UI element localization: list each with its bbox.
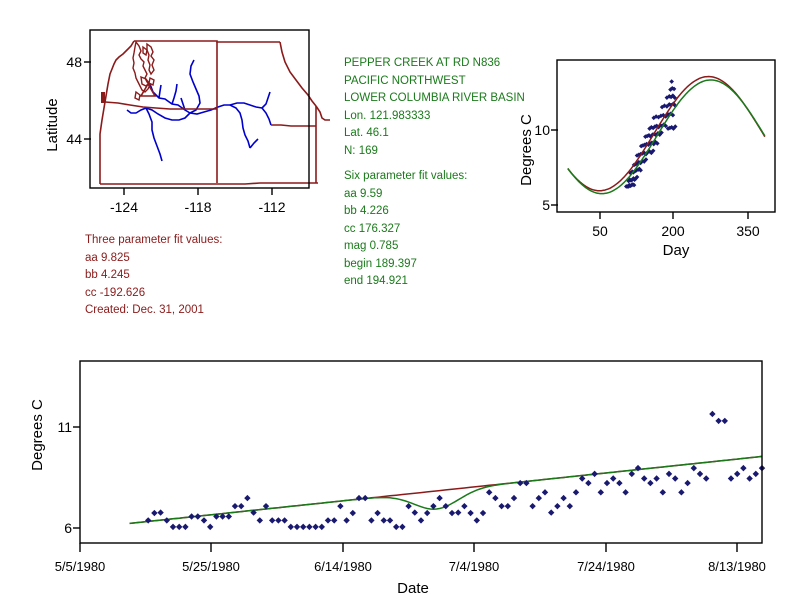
data-point bbox=[492, 495, 498, 501]
data-point bbox=[567, 503, 573, 509]
data-point bbox=[585, 480, 591, 486]
seasonal-ytick-label: 10 bbox=[534, 122, 550, 138]
data-point bbox=[257, 517, 263, 523]
data-point bbox=[164, 517, 170, 523]
data-point bbox=[176, 524, 182, 530]
data-point bbox=[529, 503, 535, 509]
six-param-end: end 194.921 bbox=[344, 273, 525, 291]
data-point bbox=[709, 411, 715, 417]
station-info-green: PEPPER CREEK AT RD N836 PACIFIC NORTHWES… bbox=[344, 55, 525, 291]
data-point bbox=[746, 475, 752, 481]
data-point bbox=[455, 509, 461, 515]
data-point bbox=[629, 471, 635, 477]
data-point bbox=[486, 489, 492, 495]
data-point bbox=[170, 524, 176, 530]
data-point bbox=[182, 524, 188, 530]
locator-map-panel: Latitude 48 44 -124 -118 -112 bbox=[0, 0, 330, 230]
seasonal-fit-panel: Degrees C 10 5 50 200 350 Day bbox=[500, 40, 792, 270]
data-point bbox=[560, 495, 566, 501]
data-point bbox=[740, 465, 746, 471]
data-point bbox=[467, 510, 473, 516]
data-point bbox=[356, 495, 362, 501]
data-point bbox=[362, 495, 368, 501]
data-point bbox=[201, 517, 207, 523]
data-point bbox=[374, 510, 380, 516]
map-ylabel: Latitude bbox=[44, 98, 61, 151]
data-point bbox=[598, 489, 604, 495]
timeseries-ylabel: Degrees C bbox=[29, 399, 46, 471]
six-param-bb: bb 4.226 bbox=[344, 203, 525, 221]
data-point bbox=[232, 503, 238, 509]
data-point bbox=[653, 475, 659, 481]
data-point bbox=[616, 480, 622, 486]
data-point bbox=[337, 503, 343, 509]
timeseries-xtick-label: 6/14/1980 bbox=[314, 559, 372, 574]
seasonal-fit-svg: Degrees C 10 5 50 200 350 Day bbox=[500, 40, 792, 270]
data-point bbox=[691, 465, 697, 471]
data-point bbox=[728, 475, 734, 481]
data-point bbox=[666, 471, 672, 477]
data-point bbox=[244, 495, 250, 501]
timeseries-xtick-label: 5/25/1980 bbox=[182, 559, 240, 574]
time-series-panel: Degrees C 11 6 5/5/1980 5/25/1980 6/14/1… bbox=[0, 340, 792, 611]
data-point bbox=[641, 475, 647, 481]
data-point bbox=[722, 418, 728, 424]
data-point bbox=[461, 503, 467, 509]
data-point bbox=[734, 471, 740, 477]
data-point bbox=[480, 510, 486, 516]
six-param-aa: aa 9.59 bbox=[344, 186, 525, 204]
info-spacer bbox=[344, 160, 525, 168]
data-point bbox=[226, 513, 232, 519]
data-point bbox=[647, 480, 653, 486]
data-point bbox=[511, 495, 517, 501]
map-xtick-label: -124 bbox=[110, 199, 138, 215]
timeseries-ytick-label: 6 bbox=[64, 520, 72, 536]
timeseries-plot-border bbox=[80, 361, 762, 543]
data-point bbox=[343, 517, 349, 523]
station-latitude: Lat. 46.1 bbox=[344, 125, 525, 143]
timeseries-xtick-label: 7/24/1980 bbox=[577, 559, 635, 574]
six-param-begin: begin 189.397 bbox=[344, 256, 525, 274]
data-point bbox=[591, 471, 597, 477]
seasonal-ytick-label: 5 bbox=[542, 197, 550, 213]
data-point bbox=[449, 510, 455, 516]
six-param-heading: Six parameter fit values: bbox=[344, 168, 525, 186]
timeseries-xtick-label: 7/4/1980 bbox=[449, 559, 500, 574]
map-xtick-label: -118 bbox=[185, 199, 212, 215]
station-region: PACIFIC NORTHWEST bbox=[344, 73, 525, 91]
data-point bbox=[381, 517, 387, 523]
data-point bbox=[715, 418, 721, 424]
data-point bbox=[536, 495, 542, 501]
data-point bbox=[412, 509, 418, 515]
data-point bbox=[331, 517, 337, 523]
data-point bbox=[554, 503, 560, 509]
six-param-mag: mag 0.785 bbox=[344, 238, 525, 256]
data-point bbox=[753, 471, 759, 477]
data-point bbox=[319, 524, 325, 530]
three-param-aa: aa 9.825 bbox=[85, 250, 222, 268]
station-basin: LOWER COLUMBIA RIVER BASIN bbox=[344, 90, 525, 108]
data-point bbox=[474, 517, 480, 523]
data-point bbox=[542, 489, 548, 495]
data-point bbox=[684, 480, 690, 486]
data-point bbox=[622, 489, 628, 495]
data-point bbox=[269, 517, 275, 523]
data-point bbox=[188, 513, 194, 519]
data-point bbox=[294, 524, 300, 530]
data-point bbox=[300, 524, 306, 530]
data-point bbox=[306, 524, 312, 530]
data-point bbox=[195, 513, 201, 519]
data-point bbox=[387, 517, 393, 523]
river-network bbox=[127, 60, 271, 161]
station-longitude: Lon. 121.983333 bbox=[344, 108, 525, 126]
data-point bbox=[703, 475, 709, 481]
data-point bbox=[610, 475, 616, 481]
data-point bbox=[368, 517, 374, 523]
data-point bbox=[517, 480, 523, 486]
seasonal-xtick-label: 50 bbox=[592, 223, 608, 239]
timeseries-xtick-label: 8/13/1980 bbox=[708, 559, 766, 574]
map-xtick-label: -112 bbox=[259, 199, 286, 215]
data-point bbox=[393, 524, 399, 530]
data-point bbox=[573, 489, 579, 495]
three-param-bb: bb 4.245 bbox=[85, 267, 222, 285]
map-ytick-label: 44 bbox=[66, 131, 82, 147]
map-ytick-label: 48 bbox=[66, 54, 82, 70]
data-point bbox=[312, 524, 318, 530]
seasonal-xlabel: Day bbox=[663, 242, 690, 259]
data-point bbox=[405, 503, 411, 509]
data-point bbox=[424, 510, 430, 516]
data-point bbox=[325, 517, 331, 523]
timeseries-xtick-label: 5/5/1980 bbox=[55, 559, 106, 574]
data-point bbox=[275, 517, 281, 523]
data-point bbox=[660, 489, 666, 495]
three-param-info-red: Three parameter fit values: aa 9.825 bb … bbox=[85, 232, 222, 320]
data-point bbox=[281, 517, 287, 523]
created-date: Created: Dec. 31, 2001 bbox=[85, 302, 222, 320]
data-point bbox=[418, 517, 424, 523]
data-point bbox=[443, 503, 449, 509]
data-point bbox=[498, 503, 504, 509]
data-point bbox=[238, 503, 244, 509]
data-point bbox=[145, 517, 151, 523]
data-point bbox=[399, 524, 405, 530]
data-point bbox=[678, 489, 684, 495]
data-point bbox=[288, 524, 294, 530]
data-point bbox=[157, 509, 163, 515]
station-sample-count: N: 169 bbox=[344, 143, 525, 161]
locator-map-svg: Latitude 48 44 -124 -118 -112 bbox=[0, 0, 330, 230]
data-point bbox=[604, 480, 610, 486]
data-point bbox=[669, 79, 674, 84]
three-param-cc: cc -192.626 bbox=[85, 285, 222, 303]
data-point bbox=[505, 503, 511, 509]
time-series-svg: Degrees C 11 6 5/5/1980 5/25/1980 6/14/1… bbox=[0, 340, 792, 611]
three-param-heading: Three parameter fit values: bbox=[85, 232, 222, 250]
data-point bbox=[207, 524, 213, 530]
data-point bbox=[697, 471, 703, 477]
timeseries-ytick-label: 11 bbox=[57, 419, 72, 435]
data-point bbox=[436, 495, 442, 501]
data-point bbox=[350, 510, 356, 516]
station-name: PEPPER CREEK AT RD N836 bbox=[344, 55, 525, 73]
timeseries-xlabel: Date bbox=[397, 580, 429, 597]
data-point bbox=[672, 475, 678, 481]
seasonal-xtick-label: 200 bbox=[661, 223, 685, 239]
data-point bbox=[151, 510, 157, 516]
seasonal-xtick-label: 350 bbox=[736, 223, 760, 239]
six-param-cc: cc 176.327 bbox=[344, 221, 525, 239]
data-point bbox=[548, 509, 554, 515]
seasonal-ylabel: Degrees C bbox=[518, 114, 535, 186]
